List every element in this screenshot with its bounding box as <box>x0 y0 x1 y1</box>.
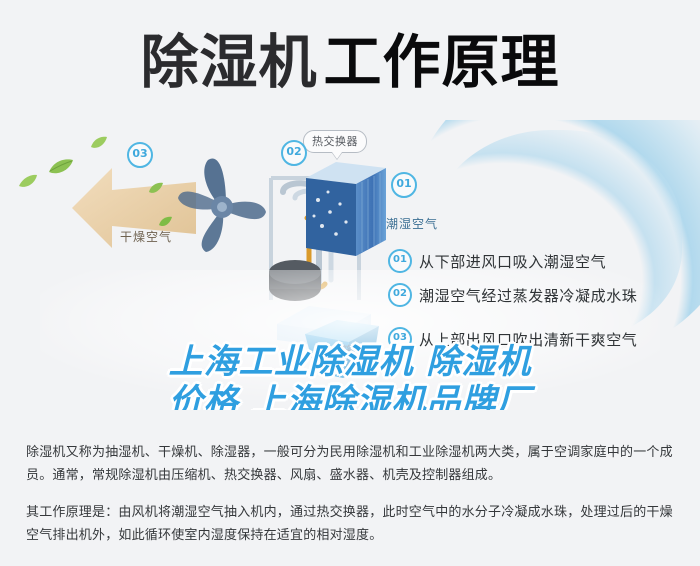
body-copy: 除湿机又称为抽湿机、干燥机、除湿器，一般可分为民用除湿机和工业除湿机两大类，属于… <box>0 410 700 566</box>
heat-exchanger-callout: 热交换器 <box>303 130 367 153</box>
step-badge: 03 <box>388 327 412 351</box>
step-text: 从下部进风口吸入潮湿空气 <box>419 251 606 272</box>
step-text: 潮湿空气经过蒸发器冷凝成水珠 <box>419 285 637 306</box>
step-badge: 01 <box>388 249 412 273</box>
page-title-part-b: 工作原理 <box>324 28 560 96</box>
heat-exchanger-illustration <box>300 156 390 266</box>
page-title-part-a: 除湿机 <box>140 28 317 96</box>
diagram-stage: 干燥空气 <box>0 120 700 410</box>
step-text: 从上部出风口吹出清新干爽空气 <box>419 329 637 350</box>
page-root: 除湿机工作原理 干燥空气 <box>0 0 700 566</box>
list-item: 01 从下部进风口吸入潮湿空气 <box>388 244 688 278</box>
dry-air-label: 干燥空气 <box>120 228 172 245</box>
list-item: 03 从上部出风口吹出清新干爽空气 <box>388 322 688 356</box>
wet-air-label: 潮湿空气 <box>386 215 438 232</box>
paragraph-1: 除湿机又称为抽湿机、干燥机、除湿器，一般可分为民用除湿机和工业除湿机两大类，属于… <box>26 441 676 487</box>
paragraph-2: 其工作原理是：由风机将潮湿空气抽入机内，通过热交换器，此时空气中的水分子冷凝成水… <box>26 501 676 547</box>
diagram-marker-01: 01 <box>391 172 417 198</box>
page-title: 除湿机工作原理 <box>0 26 700 98</box>
diagram-marker-02: 02 <box>281 140 307 166</box>
step-list: 01 从下部进风口吸入潮湿空气 02 潮湿空气经过蒸发器冷凝成水珠 03 从上部… <box>388 244 688 356</box>
list-item: 02 潮湿空气经过蒸发器冷凝成水珠 <box>388 278 688 312</box>
leaf-icon-1 <box>48 158 74 176</box>
diagram-marker-03: 03 <box>127 142 153 168</box>
leaf-icon-3 <box>148 182 164 195</box>
step-badge: 02 <box>388 283 412 307</box>
leaf-icon-5 <box>18 174 38 189</box>
leaf-icon-2 <box>90 136 108 150</box>
title-band: 除湿机工作原理 <box>0 0 700 128</box>
